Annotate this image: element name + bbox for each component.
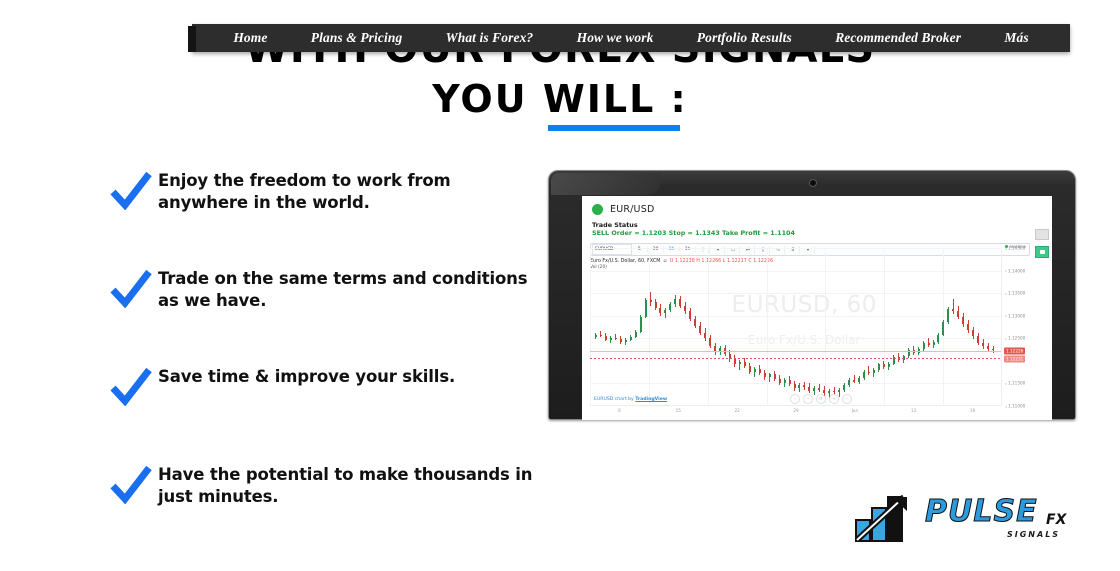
checkmark-icon [110, 270, 152, 308]
candlestick [794, 381, 796, 391]
secondary-price-badge: 1.12231 [1004, 355, 1025, 362]
grid-line-horizontal [590, 338, 1002, 339]
trade-status-block: Trade Status SELL Order = 1.1203 Stop = … [582, 215, 1052, 238]
candlestick [784, 378, 786, 387]
candlestick [610, 336, 612, 342]
zoom-control-button[interactable]: ⟳ [816, 394, 826, 404]
candlestick [655, 299, 657, 311]
candlestick [659, 304, 661, 316]
candlestick [942, 320, 944, 336]
candlestick [972, 327, 974, 340]
candlestick [645, 298, 647, 319]
candlestick [818, 384, 820, 392]
candlestick [798, 383, 800, 392]
candlestick [982, 339, 984, 349]
credit-prefix: EURUSD chart by [594, 397, 635, 402]
candlestick [650, 292, 652, 306]
zoom-control-button[interactable]: › [842, 394, 852, 404]
candlestick [674, 295, 676, 306]
candlestick [923, 341, 925, 351]
benefit-text: Trade on the same terms and conditions a… [158, 268, 540, 312]
candlestick [595, 333, 597, 339]
trading-terminal: EUR/USD Trade Status SELL Order = 1.1203… [582, 196, 1052, 420]
checkmark-icon [110, 466, 152, 504]
chart-zoom-controls[interactable]: ‹−⟳+› [790, 394, 852, 404]
benefit-text: Enjoy the freedom to work from anywhere … [158, 170, 540, 214]
chart-watermark-symbol: EURUSD, 60 [732, 292, 877, 318]
candlestick [803, 382, 805, 390]
grid-line-horizontal [590, 271, 1002, 272]
list-item: Have the potential to make thousands in … [110, 464, 540, 526]
chart-watermark-name: Euro Fx/U.S. Dollar [748, 333, 860, 347]
time-axis-tick: 15 [676, 408, 681, 413]
candlestick [684, 302, 686, 314]
candlestick [888, 362, 890, 370]
logo-wordmark: PULSE [925, 496, 1038, 528]
time-axis-tick: 29 [793, 408, 798, 413]
zoom-control-button[interactable]: ‹ [790, 394, 800, 404]
candlestick [873, 368, 875, 377]
nav-item-mas[interactable]: Más [1002, 30, 1030, 46]
currency-pair-label: EUR/USD [610, 204, 654, 215]
candlestick [699, 322, 701, 335]
benefit-text: Have the potential to make thousands in … [158, 464, 540, 508]
zoom-control-button[interactable]: + [829, 394, 839, 404]
candlestick [640, 315, 642, 334]
candlestick [977, 333, 979, 346]
time-axis-tick: 12 [911, 408, 916, 413]
candlestick [620, 336, 622, 344]
trade-status-label: Trade Status [592, 221, 1042, 229]
candlestick [928, 338, 930, 347]
bar-chart-arrow-icon [855, 494, 917, 542]
nav-item-what-is-forex[interactable]: What is Forex? [444, 30, 536, 46]
candlestick [749, 363, 751, 375]
grid-line-vertical [590, 248, 591, 406]
trade-status-value: SELL Order = 1.1203 Stop = 1.1343 Take P… [592, 229, 1042, 238]
candlestick [992, 346, 994, 352]
grid-line-vertical [825, 248, 826, 406]
grid-line-horizontal [590, 248, 1002, 249]
candlestick [779, 375, 781, 385]
time-axis-tick: Jun [852, 408, 859, 413]
candlestick [664, 308, 666, 317]
nav-item-recommended-broker[interactable]: Recommended Broker [833, 30, 963, 46]
nav-item-home[interactable]: Home [231, 30, 269, 46]
brand-logo: PULSE FX SIGNALS [855, 490, 1070, 548]
current-price-line [590, 351, 1002, 352]
candlestick [933, 340, 935, 348]
heading-accent-rule [548, 125, 680, 131]
candlestick [848, 378, 850, 387]
tradingview-credit[interactable]: EURUSD chart by TradingView [594, 397, 667, 402]
laptop-screen: EUR/USD Trade Status SELL Order = 1.1203… [582, 196, 1052, 420]
last-price-badge: 1.12226 [1004, 347, 1025, 354]
terminal-header: EUR/USD [582, 196, 1052, 215]
time-axis-tick: 19 [970, 408, 975, 413]
price-axis-tick: 1.14500 [1005, 246, 1025, 251]
price-axis-tick: 1.11000 [1005, 404, 1025, 409]
candlestick [605, 333, 607, 341]
list-item: Enjoy the freedom to work from anywhere … [110, 170, 540, 232]
candlestick [669, 302, 671, 312]
candlestick [774, 371, 776, 381]
grid-line-horizontal [590, 383, 1002, 384]
zoom-control-button[interactable]: − [803, 394, 813, 404]
nav-item-portfolio-results[interactable]: Portfolio Results [695, 30, 794, 46]
status-indicator-icon [592, 204, 603, 215]
price-axis-tick: 1.12500 [1005, 336, 1025, 341]
chart-plot-area[interactable]: EURUSD, 60 Euro Fx/U.S. Dollar [590, 248, 1002, 406]
candlestick [754, 367, 756, 377]
top-navigation-bar: Home Plans & Pricing What is Forex? How … [192, 24, 1070, 52]
grid-line-vertical [649, 248, 650, 406]
candlestick [863, 370, 865, 380]
panel-toggle-icon[interactable] [1035, 229, 1049, 240]
grid-line-horizontal [590, 293, 1002, 294]
candlestick [744, 358, 746, 368]
candlestick [962, 313, 964, 327]
candlestick [789, 376, 791, 386]
candlestick [600, 331, 602, 337]
candlestick [704, 328, 706, 341]
candlestick [635, 330, 637, 338]
price-axis[interactable]: 1.145001.140001.135001.130001.125001.115… [1001, 248, 1050, 406]
candlestick [714, 343, 716, 355]
candlestick [947, 307, 949, 324]
candlestick [625, 338, 627, 344]
time-axis-tick: 22 [734, 408, 739, 413]
grid-line-horizontal [590, 316, 1002, 317]
candlestick [878, 363, 880, 372]
benefit-text: Save time & improve your skills. [158, 366, 540, 388]
candlestick [759, 365, 761, 375]
candlestick [679, 296, 681, 308]
candlestick [868, 366, 870, 375]
candlestick [694, 316, 696, 329]
price-axis-tick: 1.13000 [1005, 313, 1025, 318]
logo-suffix: FX [1046, 512, 1066, 528]
checkmark-icon [110, 172, 152, 210]
list-item: Trade on the same terms and conditions a… [110, 268, 540, 330]
grid-line-vertical [708, 248, 709, 406]
candlestick [769, 373, 771, 382]
grid-line-vertical [884, 248, 885, 406]
candlestick [957, 306, 959, 320]
nav-item-how-we-work[interactable]: How we work [575, 30, 656, 46]
logo-subtitle: SIGNALS [1007, 530, 1060, 539]
price-axis-tick: 1.14000 [1005, 268, 1025, 273]
candlestick [937, 333, 939, 344]
headline-line-2: YOU WILL : [0, 76, 1120, 122]
candlestick [952, 299, 954, 313]
nav-item-plans-pricing[interactable]: Plans & Pricing [309, 30, 405, 46]
candlestick [764, 370, 766, 380]
webcam-icon [809, 179, 817, 187]
candlestick [729, 350, 731, 362]
price-axis-tick: 1.13500 [1005, 291, 1025, 296]
candlestick [858, 376, 860, 384]
checkmark-icon [110, 368, 152, 406]
candlestick [739, 360, 741, 370]
time-axis-tick: 8 [618, 408, 621, 413]
benefits-list: Enjoy the freedom to work from anywhere … [110, 170, 540, 562]
list-item: Save time & improve your skills. [110, 366, 540, 428]
price-axis-tick: 1.11500 [1005, 381, 1025, 386]
candlestick [615, 334, 617, 340]
candlestick [709, 335, 711, 349]
grid-line-vertical [767, 248, 768, 406]
tradingview-link[interactable]: TradingView [635, 397, 667, 402]
candlestick [967, 320, 969, 333]
time-axis[interactable]: 8152229Jun1219 [590, 405, 1002, 420]
candlestick [630, 335, 632, 341]
candlestick [689, 308, 691, 322]
candlestick [808, 383, 810, 393]
candlestick [883, 361, 885, 369]
candlestick [853, 375, 855, 383]
secondary-price-line [590, 358, 1002, 359]
price-chart[interactable]: EURUSD, 60 Euro Fx/U.S. Dollar 1.145001.… [590, 248, 1050, 420]
candlestick [843, 383, 845, 391]
laptop-mockup: EUR/USD Trade Status SELL Order = 1.1203… [548, 170, 1076, 420]
